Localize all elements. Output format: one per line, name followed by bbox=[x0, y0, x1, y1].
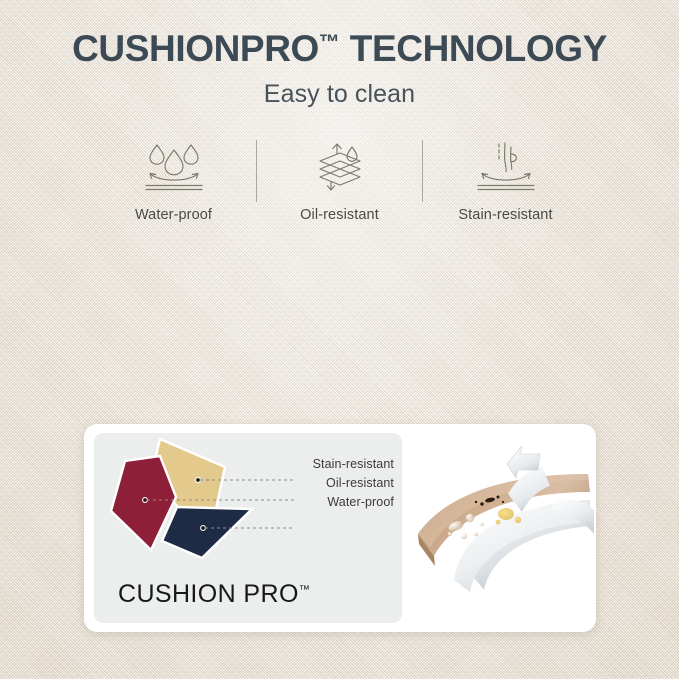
trademark-symbol: ™ bbox=[319, 31, 340, 54]
stain-splash-repelling-icon bbox=[471, 138, 541, 194]
title-brand: CUSHIONPRO bbox=[72, 28, 319, 69]
card-inner-panel: Stain-resistant Oil-resistant Water-proo… bbox=[94, 433, 402, 623]
product-feature-banner: CUSHIONPRO™ TECHNOLOGY Easy to clean Wat… bbox=[0, 0, 679, 679]
oil-spot bbox=[496, 520, 501, 525]
marker-dot-oil bbox=[143, 498, 148, 503]
marker-dot-stain bbox=[196, 478, 201, 483]
header: CUSHIONPRO™ TECHNOLOGY Easy to clean bbox=[0, 30, 679, 109]
feature-water-proof: Water-proof bbox=[91, 138, 256, 223]
legend: Stain-resistant Oil-resistant Water-proo… bbox=[252, 457, 394, 509]
feature-label: Stain-resistant bbox=[458, 207, 552, 223]
feature-stain-resistant: Stain-resistant bbox=[423, 138, 588, 223]
cushion-pro-wordmark: CUSHION PRO™ bbox=[118, 580, 310, 609]
wordmark-text: CUSHION PRO bbox=[118, 580, 299, 608]
feature-oil-resistant: Oil-resistant bbox=[257, 138, 422, 223]
feature-list: Water-proof Oil-resistant bbox=[0, 138, 679, 223]
legend-item-oil-resistant: Oil-resistant bbox=[326, 476, 394, 490]
feature-label: Water-proof bbox=[135, 207, 212, 223]
layered-fabric-oil-droplet-icon bbox=[305, 138, 375, 194]
water-bead bbox=[480, 522, 484, 526]
water-bead bbox=[474, 532, 479, 537]
oil-spot bbox=[515, 517, 521, 523]
oil-spot bbox=[498, 508, 514, 520]
marker-dot-water bbox=[201, 526, 206, 531]
feature-label: Oil-resistant bbox=[300, 207, 379, 223]
legend-item-water-proof: Water-proof bbox=[327, 495, 394, 509]
wordmark-trademark-symbol: ™ bbox=[299, 584, 310, 596]
water-bead bbox=[466, 514, 474, 522]
feature-divider bbox=[422, 140, 423, 202]
water-droplets-repelling-icon bbox=[139, 138, 209, 194]
title-suffix: TECHNOLOGY bbox=[340, 28, 607, 69]
feature-divider bbox=[256, 140, 257, 202]
page-title: CUSHIONPRO™ TECHNOLOGY bbox=[0, 30, 679, 69]
page-subtitle: Easy to clean bbox=[0, 80, 679, 109]
polygon-water-proof bbox=[162, 507, 252, 558]
cushion-surface-repelling-liquids-photo bbox=[404, 430, 594, 626]
legend-item-stain-resistant: Stain-resistant bbox=[313, 457, 394, 471]
water-bead bbox=[448, 532, 452, 536]
water-bead bbox=[461, 533, 467, 539]
product-card: Stain-resistant Oil-resistant Water-proo… bbox=[84, 424, 596, 632]
